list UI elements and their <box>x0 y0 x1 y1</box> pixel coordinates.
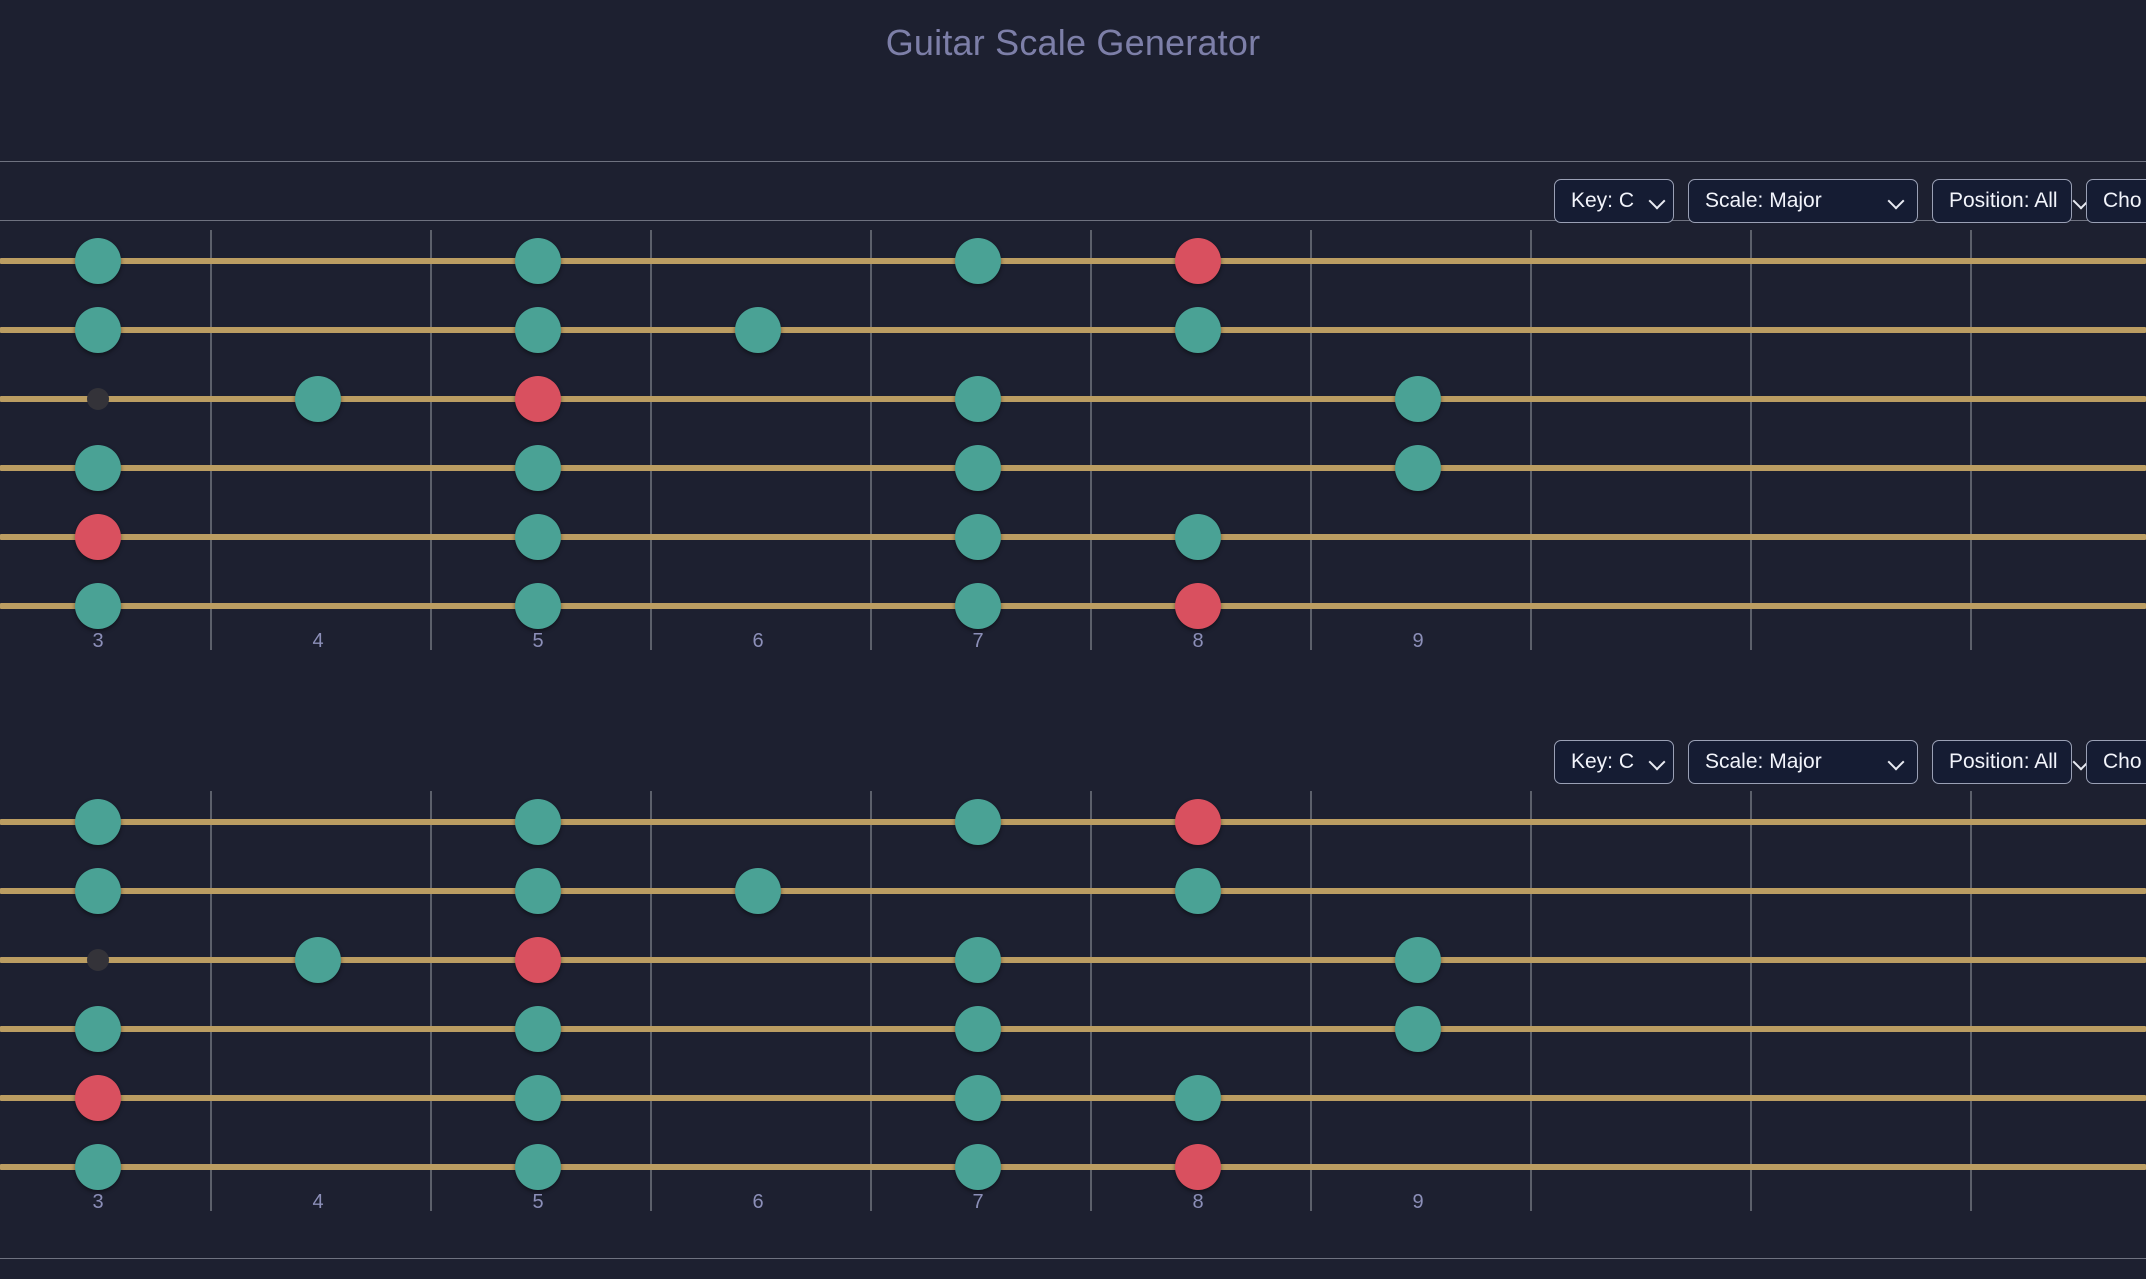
chord-select[interactable]: Cho <box>2086 179 2146 223</box>
scale-note-dot[interactable] <box>955 583 1001 629</box>
scale-note-dot[interactable] <box>955 238 1001 284</box>
controls-spacer <box>0 179 1540 223</box>
scale-note-dot[interactable] <box>295 376 341 422</box>
root-note-dot[interactable] <box>1175 1144 1221 1190</box>
chevron-down-icon <box>1889 193 1905 209</box>
scale-note-dot[interactable] <box>955 1144 1001 1190</box>
fret-line <box>1090 791 1092 1211</box>
fretboard-panel-1: Key: CScale: MajorPosition: AllCho345678… <box>0 172 2146 650</box>
fret-number-label: 3 <box>92 1191 103 1211</box>
guitar-string-5 <box>0 1095 2146 1101</box>
scale-note-dot[interactable] <box>955 1006 1001 1052</box>
scale-note-dot[interactable] <box>1395 1006 1441 1052</box>
guitar-string-2 <box>0 327 2146 333</box>
scale-note-dot[interactable] <box>75 307 121 353</box>
scale-note-dot[interactable] <box>75 799 121 845</box>
scale-note-dot[interactable] <box>955 514 1001 560</box>
scale-note-dot[interactable] <box>75 583 121 629</box>
fret-number-label: 9 <box>1412 1191 1423 1211</box>
chord-select-label: Cho <box>2103 750 2142 774</box>
scale-select[interactable]: Scale: Major <box>1688 740 1918 784</box>
fret-line <box>1750 230 1752 650</box>
fret-number-label: 8 <box>1192 630 1203 650</box>
chord-select-label: Cho <box>2103 189 2142 213</box>
scale-note-dot[interactable] <box>955 799 1001 845</box>
guitar-string-4 <box>0 1026 2146 1032</box>
scale-note-dot[interactable] <box>1395 937 1441 983</box>
guitar-string-6 <box>0 1164 2146 1170</box>
fret-number-label: 4 <box>312 1191 323 1211</box>
fret-line <box>430 791 432 1211</box>
fret-line <box>870 230 872 650</box>
scale-select[interactable]: Scale: Major <box>1688 179 1918 223</box>
fret-number-label: 4 <box>312 630 323 650</box>
fretboard[interactable]: 3456789 <box>0 230 2146 650</box>
scale-note-dot[interactable] <box>955 1075 1001 1121</box>
guitar-string-1 <box>0 258 2146 264</box>
fret-number-label: 6 <box>752 630 763 650</box>
root-note-dot[interactable] <box>515 937 561 983</box>
scale-note-dot[interactable] <box>515 514 561 560</box>
fret-number-label: 6 <box>752 1191 763 1211</box>
scale-note-dot[interactable] <box>75 1006 121 1052</box>
scale-note-dot[interactable] <box>515 583 561 629</box>
scale-note-dot[interactable] <box>515 238 561 284</box>
chevron-down-icon <box>1889 754 1905 770</box>
muted-note-dot[interactable] <box>87 388 109 410</box>
position-select-label: Position: All <box>1949 750 2058 774</box>
fret-line <box>1750 791 1752 1211</box>
fret-number-label: 5 <box>532 1191 543 1211</box>
chevron-down-icon <box>1650 193 1666 209</box>
fret-number-label: 7 <box>972 1191 983 1211</box>
scale-note-dot[interactable] <box>515 307 561 353</box>
fret-line <box>870 791 872 1211</box>
key-select-label: Key: C <box>1571 189 1634 213</box>
controls-row: Key: CScale: MajorPosition: AllCho <box>0 733 2146 791</box>
scale-note-dot[interactable] <box>735 868 781 914</box>
scale-note-dot[interactable] <box>1395 445 1441 491</box>
fret-number-label: 8 <box>1192 1191 1203 1211</box>
fret-line <box>1530 791 1532 1211</box>
guitar-string-5 <box>0 534 2146 540</box>
chevron-down-icon <box>1650 754 1666 770</box>
fret-number-label: 9 <box>1412 630 1423 650</box>
scale-note-dot[interactable] <box>1175 514 1221 560</box>
fret-line <box>1310 791 1312 1211</box>
key-select[interactable]: Key: C <box>1554 740 1674 784</box>
muted-note-dot[interactable] <box>87 949 109 971</box>
key-select-label: Key: C <box>1571 750 1634 774</box>
fret-line <box>210 230 212 650</box>
scale-note-dot[interactable] <box>955 376 1001 422</box>
scale-select-label: Scale: Major <box>1705 750 1822 774</box>
scale-note-dot[interactable] <box>1175 307 1221 353</box>
guitar-string-6 <box>0 603 2146 609</box>
horizontal-divider-1 <box>0 161 2146 162</box>
fret-line <box>210 791 212 1211</box>
fret-line <box>1530 230 1532 650</box>
controls-spacer <box>0 740 1540 784</box>
position-select[interactable]: Position: All <box>1932 740 2072 784</box>
root-note-dot[interactable] <box>1175 238 1221 284</box>
position-select[interactable]: Position: All <box>1932 179 2072 223</box>
fretboard[interactable]: 3456789 <box>0 791 2146 1211</box>
scale-note-dot[interactable] <box>75 868 121 914</box>
page-title: Guitar Scale Generator <box>0 22 2146 64</box>
controls-row: Key: CScale: MajorPosition: AllCho <box>0 172 2146 230</box>
fretboard-panel-2: Key: CScale: MajorPosition: AllCho345678… <box>0 733 2146 1211</box>
scale-note-dot[interactable] <box>1395 376 1441 422</box>
fret-number-label: 3 <box>92 630 103 650</box>
scale-note-dot[interactable] <box>515 868 561 914</box>
root-note-dot[interactable] <box>515 376 561 422</box>
fret-line <box>1090 230 1092 650</box>
root-note-dot[interactable] <box>1175 799 1221 845</box>
root-note-dot[interactable] <box>1175 583 1221 629</box>
root-note-dot[interactable] <box>75 514 121 560</box>
scale-note-dot[interactable] <box>515 1144 561 1190</box>
app-root: Guitar Scale Generator Key: CScale: Majo… <box>0 0 2146 1279</box>
scale-note-dot[interactable] <box>75 238 121 284</box>
scale-note-dot[interactable] <box>1175 868 1221 914</box>
fret-line <box>1970 230 1972 650</box>
scale-note-dot[interactable] <box>515 799 561 845</box>
chord-select[interactable]: Cho <box>2086 740 2146 784</box>
scale-note-dot[interactable] <box>955 445 1001 491</box>
scale-note-dot[interactable] <box>735 307 781 353</box>
fret-number-label: 5 <box>532 630 543 650</box>
scale-note-dot[interactable] <box>955 937 1001 983</box>
guitar-string-4 <box>0 465 2146 471</box>
scale-note-dot[interactable] <box>515 1075 561 1121</box>
scale-note-dot[interactable] <box>1175 1075 1221 1121</box>
fret-line <box>1310 230 1312 650</box>
horizontal-divider-3 <box>0 1258 2146 1259</box>
scale-select-label: Scale: Major <box>1705 189 1822 213</box>
position-select-label: Position: All <box>1949 189 2058 213</box>
root-note-dot[interactable] <box>75 1075 121 1121</box>
fret-number-label: 7 <box>972 630 983 650</box>
fret-line <box>650 230 652 650</box>
scale-note-dot[interactable] <box>515 1006 561 1052</box>
fret-line <box>430 230 432 650</box>
scale-note-dot[interactable] <box>295 937 341 983</box>
scale-note-dot[interactable] <box>75 445 121 491</box>
scale-note-dot[interactable] <box>515 445 561 491</box>
guitar-string-1 <box>0 819 2146 825</box>
guitar-string-2 <box>0 888 2146 894</box>
scale-note-dot[interactable] <box>75 1144 121 1190</box>
key-select[interactable]: Key: C <box>1554 179 1674 223</box>
fret-line <box>1970 791 1972 1211</box>
fret-line <box>650 791 652 1211</box>
